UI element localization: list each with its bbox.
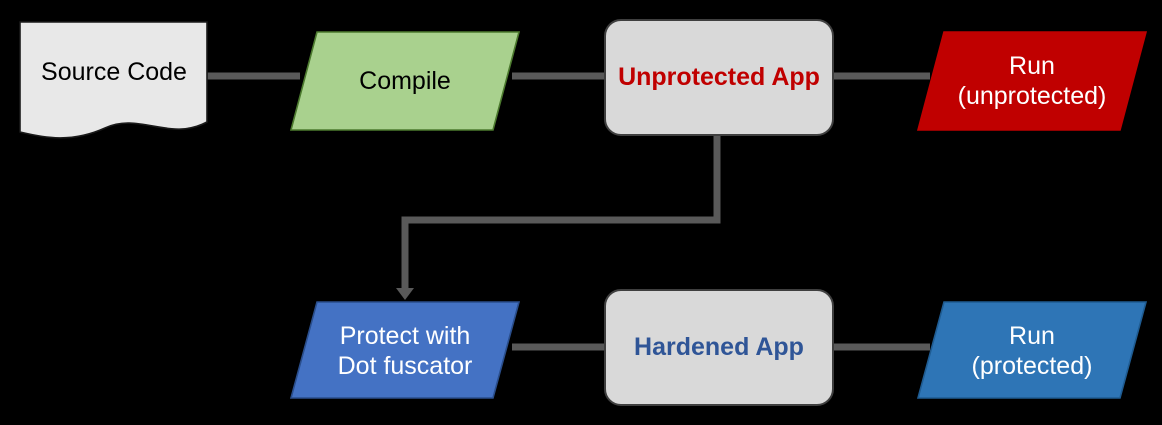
flowchart-canvas: Source Code Compile Unprotected App Run …	[0, 0, 1162, 425]
shape-source-code[interactable]	[20, 22, 207, 138]
shape-protect-with-dotfuscator[interactable]	[291, 302, 519, 398]
shape-hardened-app[interactable]	[605, 290, 833, 405]
connector-arrowhead-protect	[396, 288, 414, 300]
flowchart-svg	[0, 0, 1162, 425]
connector-unprotected-to-protect	[405, 132, 717, 292]
shape-compile[interactable]	[291, 32, 519, 130]
shape-unprotected-app[interactable]	[605, 20, 833, 135]
shape-run-protected[interactable]	[918, 302, 1146, 398]
shape-run-unprotected[interactable]	[918, 32, 1146, 130]
